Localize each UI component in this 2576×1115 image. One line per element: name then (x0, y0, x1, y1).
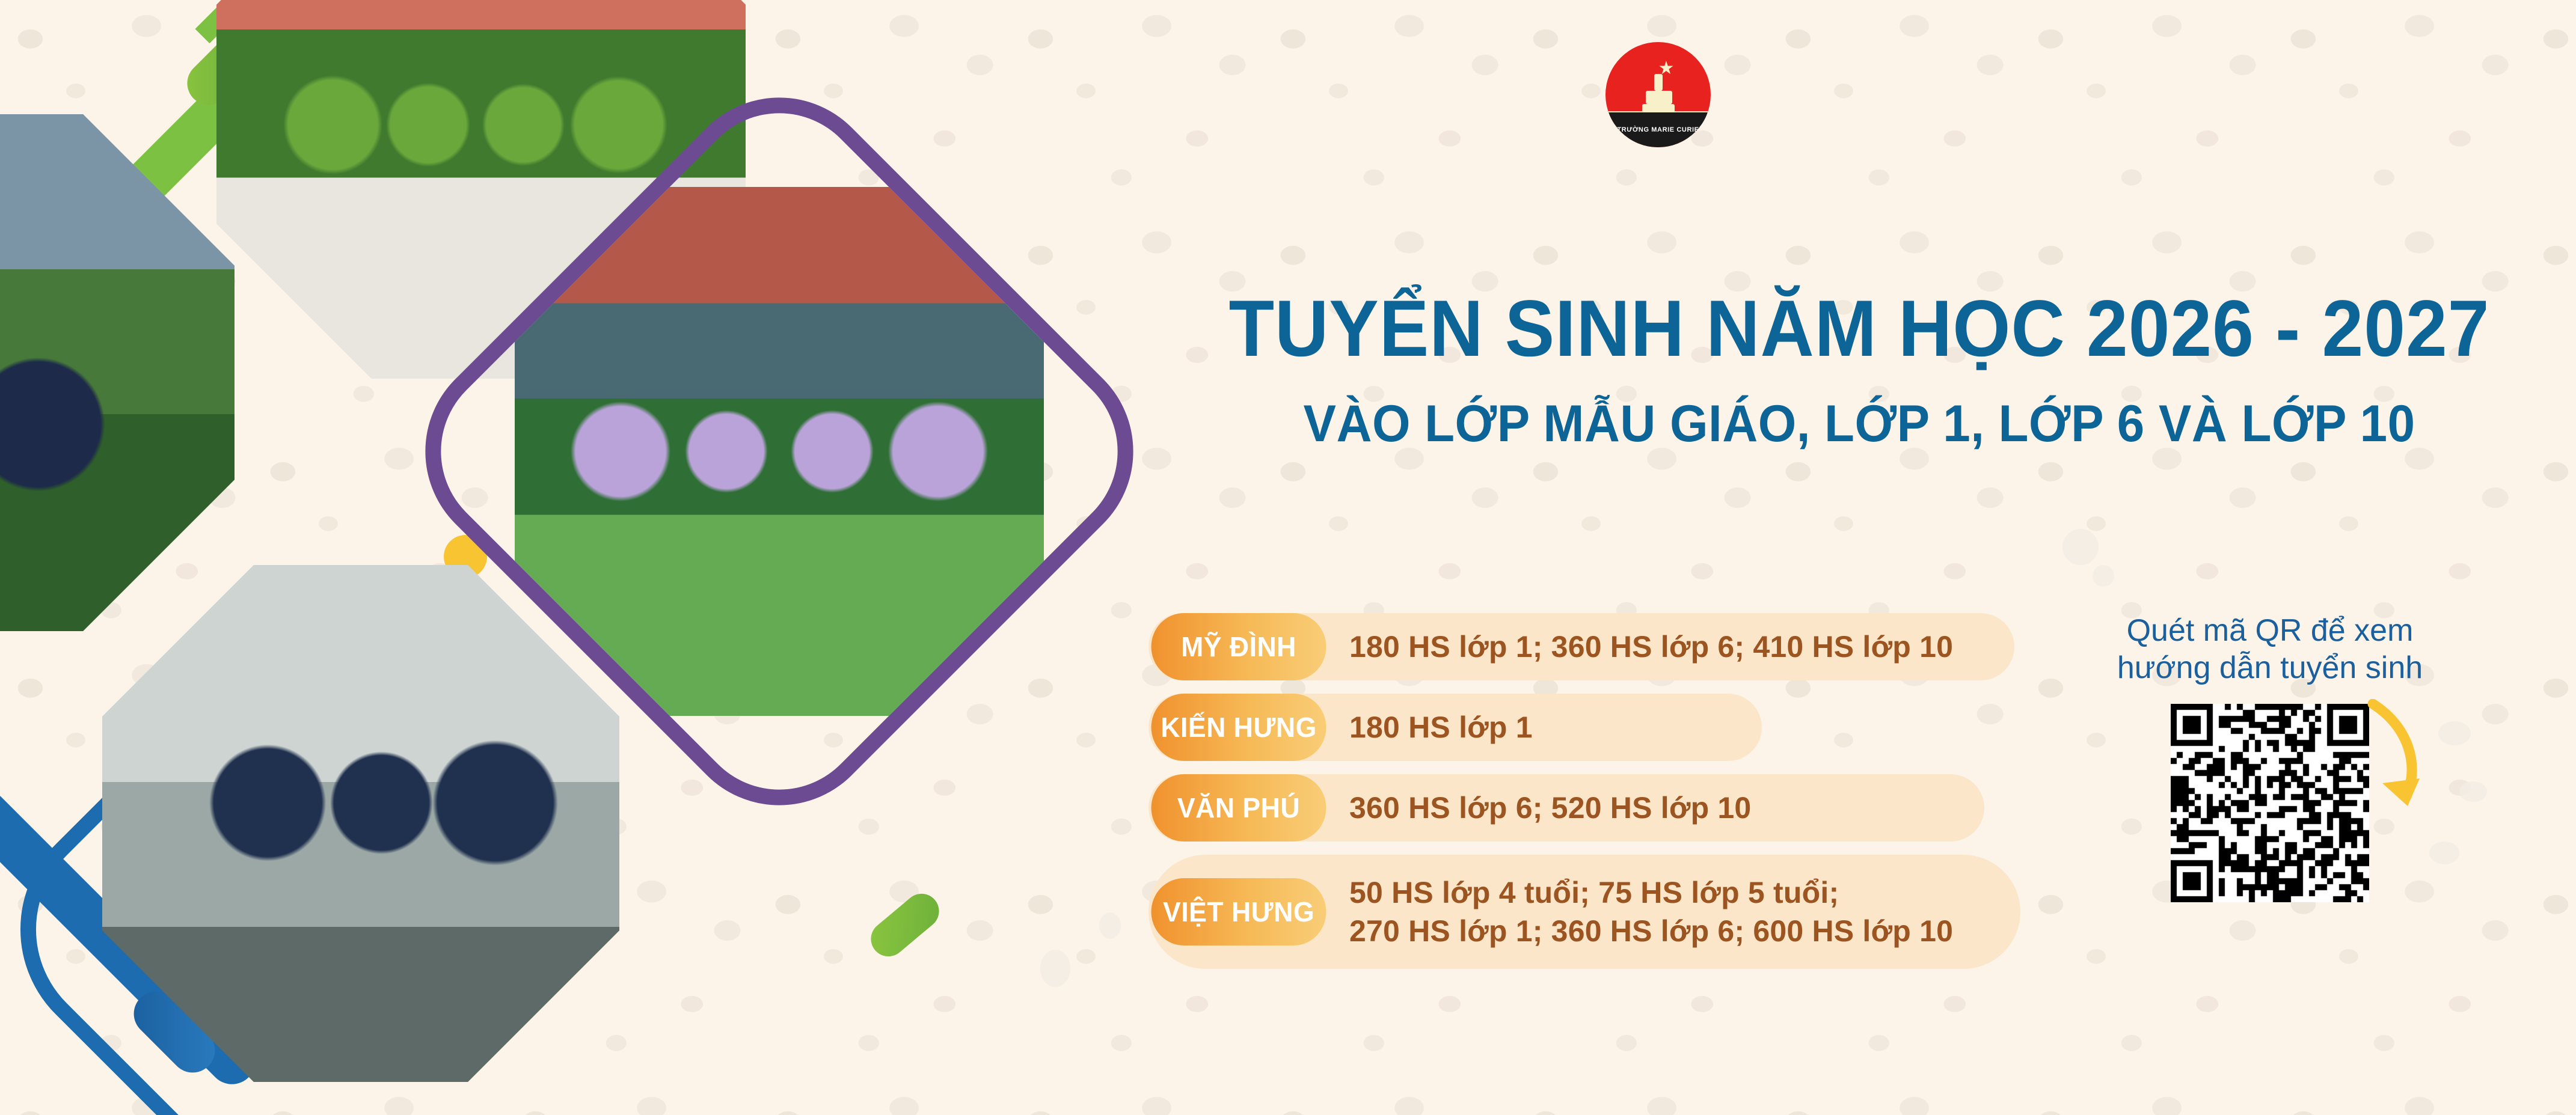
page-subtitle: VÀO LỚP MẪU GIÁO, LỚP 1, LỚP 6 VÀ LỚP 10 (1179, 397, 2541, 451)
school-logo: ★ TRƯỜNG MARIE CURIE (1605, 42, 1711, 147)
qr-caption-line1: Quét mã QR để xem (2127, 613, 2414, 648)
campus-quota-text: 50 HS lớp 4 tuổi; 75 HS lớp 5 tuổi; 270 … (1349, 873, 1953, 950)
qr-section: Quét mã QR để xem hướng dẫn tuyển sinh (2050, 612, 2489, 905)
campus-quota-text: 180 HS lớp 1 (1349, 708, 1533, 747)
logo-circle: ★ TRƯỜNG MARIE CURIE (1605, 42, 1711, 147)
campus-name-badge[interactable]: MỸ ĐÌNH (1152, 613, 1326, 680)
campus-quota-text: 360 HS lớp 6; 520 HS lớp 10 (1349, 789, 1751, 827)
campus-name-badge[interactable]: VĂN PHÚ (1152, 774, 1326, 842)
green-pill-accent (864, 887, 946, 964)
page-title: TUYỂN SINH NĂM HỌC 2026 - 2027 (1192, 287, 2525, 370)
qr-caption: Quét mã QR để xem hướng dẫn tuyển sinh (2050, 612, 2489, 687)
qr-caption-line2: hướng dẫn tuyển sinh (2117, 650, 2423, 685)
campus-row: VIỆT HƯNG 50 HS lớp 4 tuổi; 75 HS lớp 5 … (1148, 855, 2032, 969)
campus-quota-text: 180 HS lớp 1; 360 HS lớp 6; 410 HS lớp 1… (1349, 628, 1953, 666)
curved-arrow-icon (2362, 699, 2440, 819)
campus-row: KIẾN HƯNG 180 HS lớp 1 (1148, 694, 2032, 761)
campus-name-badge[interactable]: VIỆT HƯNG (1152, 878, 1326, 945)
campus-list: MỸ ĐÌNH 180 HS lớp 1; 360 HS lớp 6; 410 … (1148, 613, 2032, 982)
campus-row: VĂN PHÚ 360 HS lớp 6; 520 HS lớp 10 (1148, 774, 2032, 842)
qr-code[interactable] (2171, 704, 2369, 902)
logo-name-text: TRƯỜNG MARIE CURIE (1617, 126, 1699, 133)
logo-name-band: TRƯỜNG MARIE CURIE (1605, 111, 1711, 147)
campus-row: MỸ ĐÌNH 180 HS lớp 1; 360 HS lớp 6; 410 … (1148, 613, 2032, 680)
content-panel: ★ TRƯỜNG MARIE CURIE TUYỂN SINH NĂM HỌC … (1142, 0, 2576, 1115)
photo-collage (0, 0, 1142, 1115)
campus-name-badge[interactable]: KIẾN HƯNG (1152, 694, 1326, 761)
